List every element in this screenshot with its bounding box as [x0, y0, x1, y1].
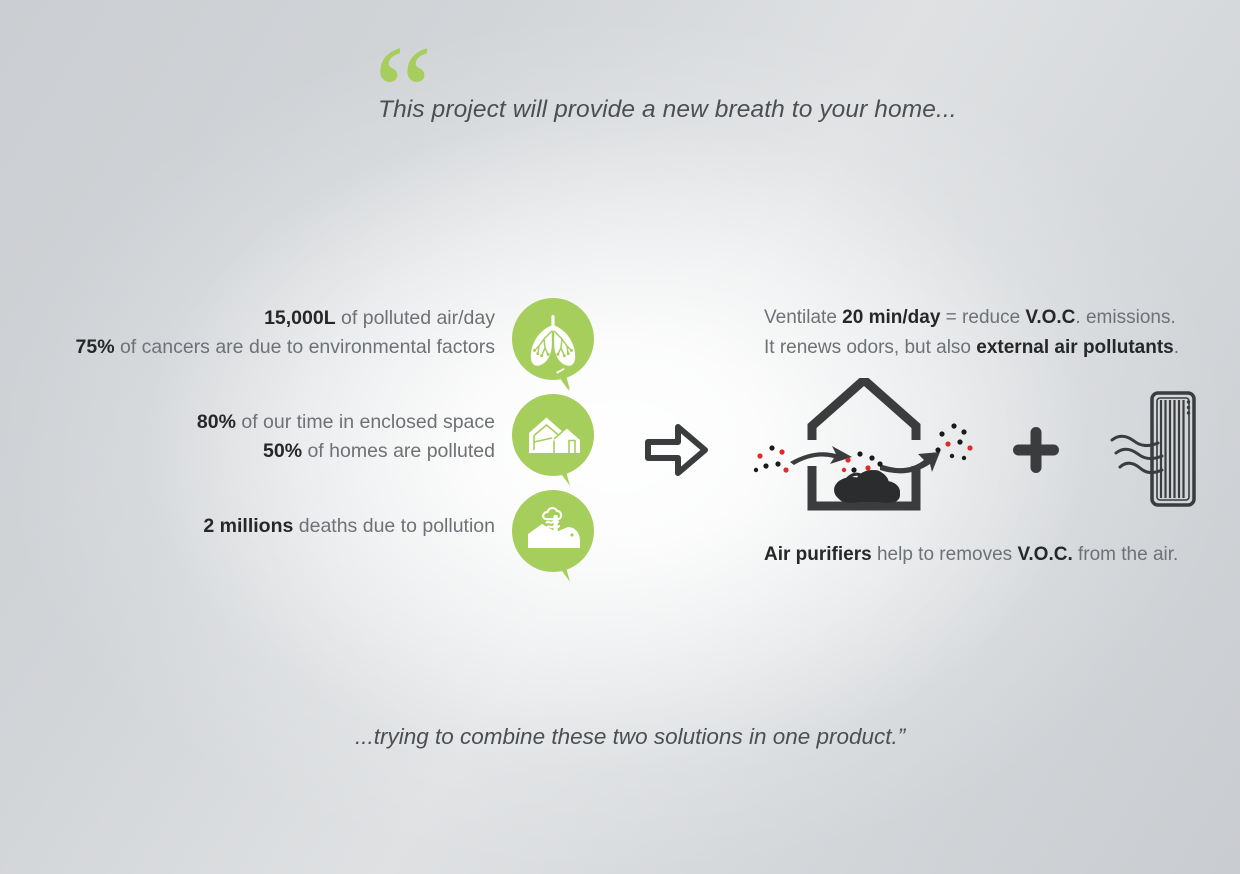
text-fragment: It renews odors, but also: [764, 337, 976, 358]
lungs-icon: [512, 298, 594, 394]
headline-quote-text: This project will provide a new breath t…: [378, 96, 957, 124]
particles-left: [754, 445, 789, 472]
air-purifier-icon: [1108, 390, 1200, 508]
stat-value: 50%: [263, 440, 302, 462]
text-fragment: help to removes: [872, 544, 1018, 565]
ventilation-paragraph: Ventilate 20 min/day = reduce V.O.C. emi…: [764, 303, 1194, 362]
stat-block-enclosed-space: 80% of our time in enclosed space 50% of…: [40, 408, 495, 466]
flow-arrow: [645, 422, 709, 483]
stat-line: 75% of cancers are due to environmental …: [40, 333, 495, 362]
particles-center: [842, 451, 883, 472]
stat-line: 2 millions deaths due to pollution: [40, 512, 495, 541]
text-fragment: . emissions.: [1075, 307, 1175, 328]
purifier-paragraph: Air purifiers help to removes V.O.C. fro…: [764, 540, 1194, 570]
text-fragment: = reduce: [940, 307, 1025, 328]
highlight-air-purifiers: Air purifiers: [764, 544, 872, 565]
stat-line: 15,000L of polluted air/day: [40, 304, 495, 333]
bubble-lungs: [512, 298, 594, 380]
bubble-house: [512, 394, 594, 476]
plus-icon: [1010, 424, 1062, 476]
stat-label: deaths due to pollution: [293, 515, 495, 537]
inflow-arrow-icon: [790, 446, 852, 465]
bubble-factory: [512, 490, 594, 572]
factory-icon: [512, 490, 594, 586]
text-fragment: from the air.: [1073, 544, 1179, 565]
airflow-lines-icon: [1112, 436, 1162, 472]
stat-label: of cancers are due to environmental fact…: [115, 336, 495, 358]
stat-value: 80%: [197, 411, 236, 433]
purifier-line: Air purifiers help to removes V.O.C. fro…: [764, 540, 1194, 570]
highlight-pollutants: external air pollutants: [976, 337, 1173, 358]
highlight-voc: V.O.C: [1025, 307, 1075, 328]
plus-operator: [1010, 424, 1062, 481]
stat-label: of polluted air/day: [336, 307, 495, 329]
text-fragment: Ventilate: [764, 307, 842, 328]
stat-block-polluted-air: 15,000L of polluted air/day 75% of cance…: [40, 304, 495, 362]
highlight-duration: 20 min/day: [842, 307, 940, 328]
ventilation-line-1: Ventilate 20 min/day = reduce V.O.C. emi…: [764, 303, 1194, 333]
house-icon: [512, 394, 594, 490]
highlight-voc: V.O.C.: [1017, 544, 1072, 565]
particles-right: [935, 423, 972, 460]
outflow-arrow-icon: [880, 452, 940, 473]
right-arrow-icon: [645, 422, 709, 478]
indicator-dots-icon: [1187, 400, 1190, 414]
stat-value: 2 millions: [203, 515, 293, 537]
stat-label: of our time in enclosed space: [236, 411, 495, 433]
stat-label: of homes are polluted: [302, 440, 495, 462]
house-airflow-diagram: [752, 378, 992, 518]
air-purifier: [1108, 390, 1200, 513]
stat-line: 80% of our time in enclosed space: [40, 408, 495, 437]
stat-value: 15,000L: [264, 307, 336, 329]
stat-value: 75%: [76, 336, 115, 358]
stat-line: 50% of homes are polluted: [40, 437, 495, 466]
ventilation-line-2: It renews odors, but also external air p…: [764, 333, 1194, 363]
text-fragment: .: [1174, 337, 1179, 358]
stat-block-pollution-deaths: 2 millions deaths due to pollution: [40, 512, 495, 541]
closing-quote-text: ...trying to combine these two solutions…: [355, 724, 905, 750]
opening-quote-icon: “: [374, 26, 431, 158]
slide-background: “ This project will provide a new breath…: [0, 0, 1240, 874]
